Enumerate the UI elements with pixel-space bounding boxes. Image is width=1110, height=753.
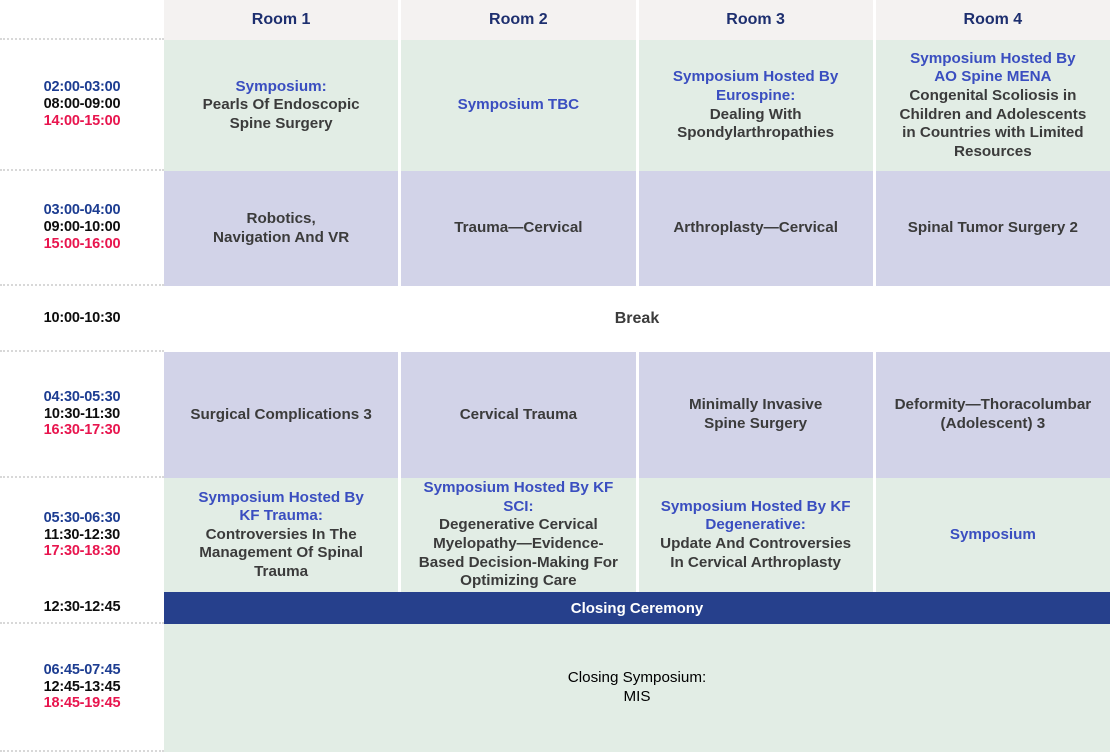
session-cell-room2[interactable]: Cervical Trauma [401,352,635,478]
break-banner-wrap: Break [164,286,1110,352]
time-blue: 05:30-06:30 [44,510,121,527]
time-slot-0800-0900: 02:00-03:00 08:00-09:00 14:00-15:00 [0,40,164,171]
session-title: Trauma—Cervical [454,219,582,238]
time-black: 09:00-10:00 [44,219,121,236]
session-cell-room1[interactable]: Robotics,Navigation And VR [164,171,398,286]
session-cell-room3[interactable]: Symposium Hosted By KFDegenerative: Upda… [639,478,873,592]
session-cell-room2[interactable]: Trauma—Cervical [401,171,635,286]
session-cell-room3[interactable]: Symposium Hosted ByEurospine: Dealing Wi… [639,40,873,171]
room-header-3: Room 3 [639,0,873,40]
session-cell-room3[interactable]: Minimally InvasiveSpine Surgery [639,352,873,478]
session-title: Pearls Of EndoscopicSpine Surgery [203,96,360,133]
time-black: 11:30-12:30 [44,527,120,544]
session-cell-room4[interactable]: Deformity—Thoracolumbar(Adolescent) 3 [876,352,1110,478]
session-cell-room2[interactable]: Symposium Hosted By KFSCI: Degenerative … [401,478,635,592]
session-cell-room4[interactable]: Symposium Hosted ByAO Spine MENA Congeni… [876,40,1110,171]
time-slot-closing-ceremony: 12:30-12:45 [0,592,164,624]
time-slot-break: 10:00-10:30 [0,286,164,352]
conference-schedule-table: Room 1 Room 2 Room 3 Room 4 02:00-03:00 … [0,0,1110,753]
session-title: Update And ControversiesIn Cervical Arth… [660,535,851,572]
session-cell-room4[interactable]: Symposium [876,478,1110,592]
time-black: 08:00-09:00 [44,96,121,113]
session-cells-0800-0900: Symposium: Pearls Of EndoscopicSpine Sur… [164,40,1110,171]
session-cells-0900-1000: Robotics,Navigation And VR Trauma—Cervic… [164,171,1110,286]
time-black: 10:00-10:30 [44,310,121,327]
ceremony-banner-wrap: Closing Ceremony [164,592,1110,624]
header-time-column [0,0,164,40]
header-room-columns: Room 1 Room 2 Room 3 Room 4 [164,0,1110,40]
closing-ceremony-banner[interactable]: Closing Ceremony [164,592,1110,624]
session-title: Robotics,Navigation And VR [213,210,349,247]
time-slot-0900-1000: 03:00-04:00 09:00-10:00 15:00-16:00 [0,171,164,286]
session-cell-room1[interactable]: Surgical Complications 3 [164,352,398,478]
time-black: 12:45-13:45 [44,679,121,696]
session-title: Deformity—Thoracolumbar(Adolescent) 3 [895,396,1092,433]
session-title: Spinal Tumor Surgery 2 [908,219,1078,238]
session-cell-room1[interactable]: Symposium: Pearls Of EndoscopicSpine Sur… [164,40,398,171]
session-highlight: Closing Symposium: [568,669,706,688]
schedule-row-0900-1000: 03:00-04:00 09:00-10:00 15:00-16:00 Robo… [0,171,1110,286]
schedule-row-1130-1230: 05:30-06:30 11:30-12:30 17:30-18:30 Symp… [0,478,1110,592]
time-blue: 04:30-05:30 [44,389,121,406]
time-blue: 03:00-04:00 [44,202,121,219]
schedule-row-break: 10:00-10:30 Break [0,286,1110,352]
session-title: Cervical Trauma [460,406,577,425]
session-title: MIS [623,688,650,707]
time-red: 18:45-19:45 [44,695,121,712]
session-title: Arthroplasty—Cervical [673,219,838,238]
session-highlight: Symposium Hosted ByEurospine: [673,68,838,105]
closing-symposium-banner[interactable]: Closing Symposium: MIS [164,624,1110,752]
room-header-2: Room 2 [401,0,635,40]
session-highlight: Symposium TBC [458,96,580,115]
session-title: Controversies In TheManagement Of Spinal… [199,526,363,582]
time-slot-closing-symposium: 06:45-07:45 12:45-13:45 18:45-19:45 [0,624,164,752]
session-highlight: Symposium: [236,78,327,97]
room-header-4: Room 4 [876,0,1110,40]
time-red: 16:30-17:30 [44,422,121,439]
schedule-row-0800-0900: 02:00-03:00 08:00-09:00 14:00-15:00 Symp… [0,40,1110,171]
schedule-row-1030-1130: 04:30-05:30 10:30-11:30 16:30-17:30 Surg… [0,352,1110,478]
session-title: Congenital Scoliosis inChildren and Adol… [899,87,1086,161]
schedule-header-row: Room 1 Room 2 Room 3 Room 4 [0,0,1110,40]
closing-symposium-wrap: Closing Symposium: MIS [164,624,1110,752]
time-red: 15:00-16:00 [44,236,121,253]
time-blue: 02:00-03:00 [44,79,121,96]
time-black: 10:30-11:30 [44,406,120,423]
schedule-row-closing-symposium: 06:45-07:45 12:45-13:45 18:45-19:45 Clos… [0,624,1110,752]
session-cell-room2[interactable]: Symposium TBC [401,40,635,171]
time-slot-1030-1130: 04:30-05:30 10:30-11:30 16:30-17:30 [0,352,164,478]
session-highlight: Symposium Hosted By KFDegenerative: [661,498,851,535]
session-title: Surgical Complications 3 [190,406,371,425]
session-highlight: Symposium Hosted ByAO Spine MENA [910,50,1075,87]
time-blue: 06:45-07:45 [44,662,121,679]
session-title: Minimally InvasiveSpine Surgery [689,396,822,433]
session-cells-1030-1130: Surgical Complications 3 Cervical Trauma… [164,352,1110,478]
session-highlight: Symposium Hosted ByKF Trauma: [198,489,363,526]
session-cell-room1[interactable]: Symposium Hosted ByKF Trauma: Controvers… [164,478,398,592]
session-cells-1130-1230: Symposium Hosted ByKF Trauma: Controvers… [164,478,1110,592]
time-black: 12:30-12:45 [44,599,121,616]
session-title: Dealing WithSpondylarthropathies [677,106,834,143]
session-cell-room4[interactable]: Spinal Tumor Surgery 2 [876,171,1110,286]
time-slot-1130-1230: 05:30-06:30 11:30-12:30 17:30-18:30 [0,478,164,592]
room-header-1: Room 1 [164,0,398,40]
schedule-row-closing-ceremony: 12:30-12:45 Closing Ceremony [0,592,1110,624]
session-highlight: Symposium [950,526,1036,545]
time-red: 14:00-15:00 [44,113,121,130]
break-banner: Break [164,286,1110,352]
session-cell-room3[interactable]: Arthroplasty—Cervical [639,171,873,286]
time-red: 17:30-18:30 [44,543,121,560]
session-highlight: Symposium Hosted By KFSCI: [423,479,613,516]
session-title: Degenerative CervicalMyelopathy—Evidence… [419,516,618,590]
